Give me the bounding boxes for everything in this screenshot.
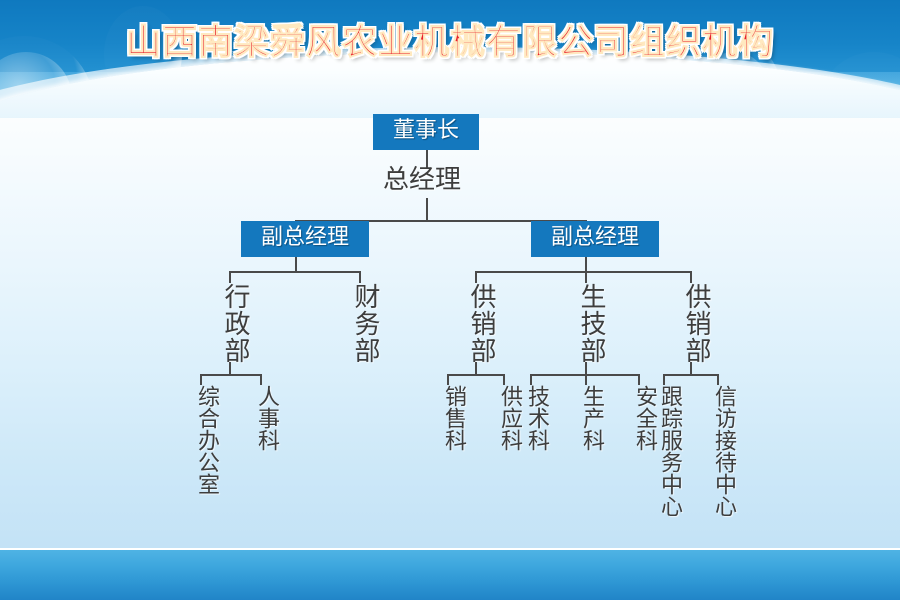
connector-prodtech-production xyxy=(585,374,587,385)
connector-supply1-procure xyxy=(503,374,505,385)
connector-supply2-petition xyxy=(717,374,719,385)
poster-footer-band xyxy=(0,548,900,600)
connector-dgm2-supply1 xyxy=(475,271,477,283)
node-supply-dept-2[interactable]: 供销部 xyxy=(678,283,715,364)
node-tracking-service-center[interactable]: 跟踪服务中心 xyxy=(653,385,685,517)
connector-prodtech-down xyxy=(585,362,587,374)
connector-supply1-down xyxy=(475,362,477,374)
connector-dgm2-supply2 xyxy=(690,271,692,283)
connector-supply1-sales xyxy=(447,374,449,385)
node-general-manager[interactable]: 总经理 xyxy=(383,164,461,196)
connector-prodtech-safety xyxy=(638,374,640,385)
connector-dgm2-bar xyxy=(475,271,690,273)
node-production-tech-dept[interactable]: 生技部 xyxy=(573,283,610,364)
node-deputy-gm-right[interactable]: 副总经理 xyxy=(531,221,659,257)
node-chairman[interactable]: 董事长 xyxy=(373,114,479,150)
node-supply-dept-1[interactable]: 供销部 xyxy=(463,283,500,364)
connector-dgm1-down xyxy=(295,257,297,271)
connector-dgm1-bar xyxy=(229,271,361,273)
connector-supply1-bar xyxy=(447,374,505,376)
connector-dgm2-down xyxy=(585,257,587,271)
connector-admin-bar xyxy=(200,374,262,376)
connector-supply2-down xyxy=(690,362,692,374)
node-general-office[interactable]: 综合办公室 xyxy=(190,385,222,495)
node-petition-reception-center[interactable]: 信访接待中心 xyxy=(707,385,739,517)
node-production-section[interactable]: 生产科 xyxy=(575,385,607,451)
node-finance-dept[interactable]: 财务部 xyxy=(347,283,384,364)
node-admin-dept[interactable]: 行政部 xyxy=(217,283,254,364)
node-hr-section[interactable]: 人事科 xyxy=(250,385,282,451)
connector-gm-down xyxy=(426,198,428,220)
connector-dgm1-finance xyxy=(359,271,361,283)
node-technology-section[interactable]: 技术科 xyxy=(520,385,552,451)
org-chart: 董事长 总经理 副总经理 副总经理 行政部 财务部 综合办公室 人事科 xyxy=(0,0,900,600)
connector-admin-genoffice xyxy=(200,374,202,385)
connector-supply2-bar xyxy=(663,374,719,376)
node-sales-section[interactable]: 销售科 xyxy=(437,385,469,451)
org-chart-poster: 山西南梁舜风农业机械有限公司组织机构 董事长 总经理 副总经理 副总经理 行政部… xyxy=(0,0,900,600)
connector-dgm1-admin xyxy=(229,271,231,283)
node-deputy-gm-left[interactable]: 副总经理 xyxy=(241,221,369,257)
connector-dgm2-prodtech xyxy=(585,271,587,283)
connector-admin-down xyxy=(229,362,231,374)
connector-supply2-tracking xyxy=(663,374,665,385)
connector-prodtech-tech xyxy=(530,374,532,385)
connector-admin-hr xyxy=(260,374,262,385)
